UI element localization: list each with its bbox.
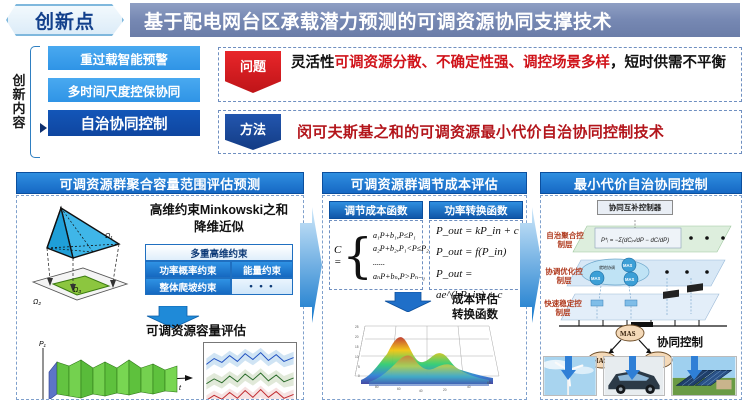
svg-text:40: 40 — [419, 389, 423, 393]
svg-text:0: 0 — [358, 374, 360, 378]
svg-text:Ω₁: Ω₁ — [105, 233, 113, 240]
layer-label-autonomous: 自治聚合控制层 — [544, 232, 586, 249]
svg-text:P₁: P₁ — [39, 341, 47, 348]
svg-text:Ω₂: Ω₂ — [33, 299, 41, 306]
panel-1-subtitle-line1: 高维约束Minkowski之和 — [139, 202, 299, 219]
power-function-box: P_out = kP_in + c P_out = f(P_in) P_out … — [429, 220, 523, 290]
cost-piece: aₙP+bₙ,P>Pₙ₋₁ — [373, 270, 429, 284]
panel-2-flow-line1: 成本评估 — [429, 293, 521, 308]
svg-text:P*ᵢ = −Σ(dCᵢₙ/dP − dC/dP): P*ᵢ = −Σ(dCᵢₙ/dP − dC/dP) — [601, 238, 669, 244]
svg-text:MAS: MAS — [620, 330, 636, 338]
panel-1-body: 高维约束Minkowski之和 降维近似 Ω₁ Ω₃ Ω₂ 多 — [16, 195, 304, 400]
power-equation: P_out = f(P_in) — [436, 242, 522, 263]
problem-ribbon: 问题 — [225, 51, 281, 93]
panel-1-subtitle-line2: 降维近似 — [139, 219, 299, 236]
cost-piece: ...... — [373, 256, 429, 270]
cost-piecewise-formula: C = { a₁P+b₁,P≤P₁ a₂P+b₂,P₁<P≤P₂ ...... … — [334, 225, 422, 287]
cost-piece: a₂P+b₂,P₁<P≤P₂ — [373, 242, 429, 256]
svg-text:40: 40 — [467, 385, 471, 389]
panel-capacity-assessment: 可调资源群聚合容量范围评估预测 高维约束Minkowski之和 降维近似 Ω₁ … — [16, 172, 304, 400]
problem-text: 灵活性可调资源分散、不确定性强、调控场景多样，短时供需不平衡 — [291, 53, 735, 74]
panel-2-title: 可调资源群调节成本评估 — [351, 174, 498, 193]
down-arrow-icon — [541, 356, 741, 382]
constraint-cell: 功率概率约束 — [145, 261, 231, 278]
capacity-tube-diagram: P₁ t P₂ — [29, 338, 197, 400]
power-function-header: 功率转换函数 — [429, 201, 523, 219]
svg-text:t: t — [179, 385, 182, 392]
constraint-table: 多重高维约束 功率概率约束 能量约束 整体爬坡约束 • • • — [145, 244, 293, 295]
panel-3-title: 最小代价自治协同控制 — [574, 174, 708, 193]
layer-label-stability: 快速稳定控制层 — [542, 300, 584, 317]
method-ribbon-label: 方法 — [240, 119, 266, 138]
sidebar-brace — [30, 46, 40, 158]
page-title: 基于配电网台区承载潜力预测的可调资源协同支撑技术 — [144, 7, 612, 34]
sidebar-items: 重过载智能预警 多时间尺度控保协同 自治协同控制 — [48, 46, 216, 144]
cooperative-controller-box: 协同互补控制器 — [597, 200, 673, 215]
power-equation: P_out = kP_in + c — [436, 221, 522, 242]
problem-text-part2: ，短时供需不平衡 — [610, 55, 726, 71]
svg-text:15: 15 — [355, 345, 359, 349]
constraint-table-header: 多重高维约束 — [145, 244, 293, 261]
svg-text:60: 60 — [397, 387, 401, 391]
constraint-cell-ellipsis: • • • — [231, 278, 293, 295]
panel-3-header: 最小代价自治协同控制 — [540, 172, 742, 194]
forecast-band-chart — [203, 342, 297, 400]
sidebar-item-label: 重过载智能预警 — [80, 49, 168, 68]
cost-formula-pieces: a₁P+b₁,P≤P₁ a₂P+b₂,P₁<P≤P₂ ...... aₙP+bₙ… — [373, 229, 429, 284]
svg-text:MAS: MAS — [591, 276, 601, 281]
svg-text:80: 80 — [375, 385, 379, 389]
constraint-cell: 能量约束 — [231, 261, 293, 278]
panel-1-flow-label: 可调资源容量评估 — [121, 320, 271, 339]
sidebar-item-overload-warning[interactable]: 重过载智能预警 — [48, 46, 200, 70]
sidebar-vertical-label: 创 新 内 容 — [8, 46, 30, 158]
minkowski-projection-diagram: Ω₁ Ω₃ Ω₂ — [23, 200, 139, 316]
svg-text:25: 25 — [355, 325, 359, 329]
constraint-table-header-row: 多重高维约束 — [145, 244, 293, 261]
sidebar-label-char: 创 — [12, 74, 25, 88]
sidebar-item-label: 自治协同控制 — [81, 113, 168, 134]
panel-1-header: 可调资源群聚合容量范围评估预测 — [16, 172, 304, 194]
constraint-table-row: 功率概率约束 能量约束 — [145, 261, 293, 278]
panel-2-header: 可调资源群调节成本评估 — [322, 172, 527, 194]
innovation-badge-label: 创新点 — [35, 7, 95, 34]
problem-box: 问题 灵活性可调资源分散、不确定性强、调控场景多样，短时供需不平衡 — [218, 47, 742, 102]
panel-autonomous-control: 最小代价自治协同控制 协同互补控制器 P*ᵢ = −Σ(dCᵢₙ/dP − dC… — [540, 172, 742, 400]
right-arrow-icon — [300, 205, 322, 325]
panel-1-title: 可调资源群聚合容量范围评估预测 — [59, 174, 260, 193]
method-text: 闵可夫斯基之和的可调资源最小代价自治协同控制技术 — [297, 121, 735, 142]
down-arrow-icon — [383, 292, 433, 312]
cost-function-header: 调节成本函数 — [329, 201, 423, 219]
cost-formula-lhs: C = — [334, 244, 342, 268]
sidebar-item-multiscale-coordination[interactable]: 多时间尺度控保协同 — [48, 78, 200, 102]
svg-text:就地协调: 就地协调 — [599, 264, 615, 270]
svg-text:20: 20 — [355, 335, 359, 339]
method-ribbon: 方法 — [225, 114, 281, 150]
problem-text-highlight: 可调资源分散、不确定性强、调控场景多样 — [335, 55, 611, 71]
constraint-cell: 整体爬坡约束 — [145, 278, 231, 295]
slide-title-bar: 基于配电网台区承载潜力预测的可调资源协同支撑技术 — [130, 3, 740, 37]
sidebar-label-char: 内 — [12, 102, 25, 116]
sidebar-item-label: 多时间尺度控保协同 — [68, 81, 181, 100]
slide-header: 创新点 基于配电网台区承载潜力预测的可调资源协同支撑技术 — [0, 0, 747, 40]
svg-text:5: 5 — [358, 365, 360, 369]
cost-piece: a₁P+b₁,P≤P₁ — [373, 229, 429, 243]
svg-text:MAS: MAS — [623, 263, 633, 268]
panel-1-subtitle: 高维约束Minkowski之和 降维近似 — [139, 202, 299, 236]
constraint-table-row: 整体爬坡约束 • • • — [145, 278, 293, 295]
method-box: 方法 闵可夫斯基之和的可调资源最小代价自治协同控制技术 — [218, 110, 742, 154]
svg-text:Ω₃: Ω₃ — [73, 287, 81, 294]
svg-text:20: 20 — [443, 388, 447, 392]
panel-cost-assessment: 可调资源群调节成本评估 调节成本函数 功率转换函数 C = { a₁P+b₁,P… — [322, 172, 527, 400]
svg-text:60: 60 — [487, 381, 491, 385]
panel-3-body: 协同互补控制器 P*ᵢ = −Σ(dCᵢₙ/dP − dC/dP) MAS MA… — [540, 195, 742, 400]
innovation-badge: 创新点 — [6, 4, 124, 36]
svg-text:10: 10 — [355, 355, 359, 359]
svg-text:MAS: MAS — [625, 277, 635, 282]
panel-3-flow-label: 协同控制 — [657, 334, 703, 350]
marker-arrow-icon — [40, 123, 47, 133]
sidebar-label-char: 容 — [12, 116, 25, 130]
problem-ribbon-label: 问题 — [240, 56, 266, 75]
brace-icon: { — [342, 240, 373, 273]
cost-surface-3d-plot: 2520 1510 50 8060 4020 4060 — [339, 318, 515, 396]
sidebar-item-autonomous-control[interactable]: 自治协同控制 — [48, 110, 200, 136]
cost-function-box: C = { a₁P+b₁,P≤P₁ a₂P+b₂,P₁<P≤P₂ ...... … — [329, 220, 423, 290]
layer-label-coordination: 协调优化控制层 — [543, 268, 585, 285]
panel-2-body: 调节成本函数 功率转换函数 C = { a₁P+b₁,P≤P₁ a₂P+b₂,P… — [322, 195, 527, 400]
right-arrow-icon — [520, 205, 542, 325]
problem-text-part1: 灵活性 — [291, 55, 335, 71]
sidebar-label-char: 新 — [12, 88, 25, 102]
